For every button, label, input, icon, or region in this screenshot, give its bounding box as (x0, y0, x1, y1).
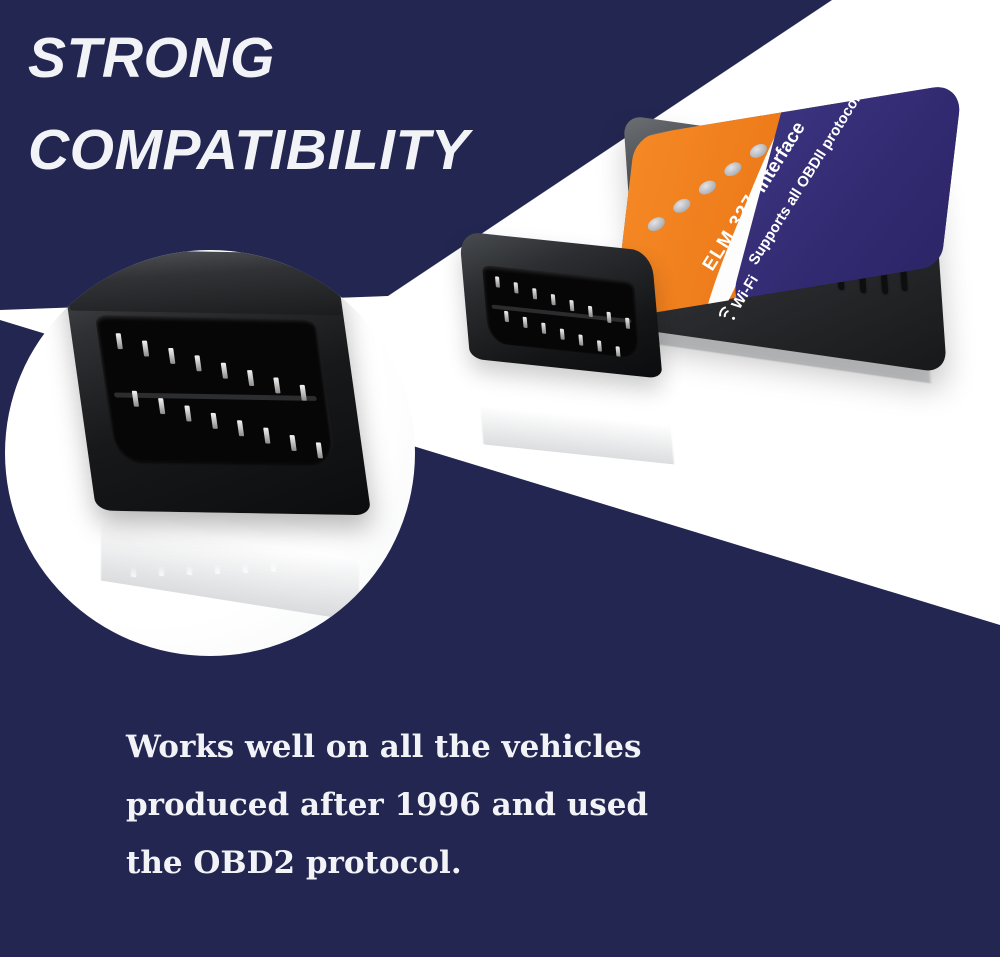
connector-pin (184, 406, 191, 422)
plug-pin (606, 312, 611, 323)
marketing-caption: Works well on all the vehicles produced … (126, 718, 886, 892)
connector-pin (194, 355, 201, 371)
plug-pin (541, 323, 546, 334)
connector-pin (247, 370, 254, 386)
connector-pin (289, 435, 296, 451)
plug-pin (532, 288, 537, 299)
plug-pin (569, 300, 574, 311)
connector-pin (263, 428, 270, 444)
plug-pin (514, 282, 519, 293)
connector-pin (168, 348, 175, 364)
connector-pin (300, 385, 307, 401)
plug-pin (597, 340, 602, 351)
plug-pin (625, 318, 630, 329)
device-obd-plug (461, 231, 684, 407)
connector-top-face (61, 250, 341, 315)
plug-pin (551, 294, 556, 305)
product-marketing-image: STRONG COMPATIBILITY (0, 0, 1000, 957)
connector-pin (273, 377, 280, 393)
plug-pin (578, 334, 583, 345)
plug-pin (523, 317, 528, 328)
plug-pin (504, 311, 509, 322)
plug-pin (560, 329, 565, 340)
connector-cavity (95, 315, 337, 467)
connector-pin (158, 398, 165, 414)
connector-pin (211, 413, 218, 429)
plug-pin (588, 306, 593, 317)
connector-pin (237, 420, 244, 436)
connector-pin (221, 363, 228, 379)
plug-pin (616, 346, 621, 357)
plug-pin (495, 276, 500, 287)
elm327-device-graphic (455, 118, 975, 498)
connector-pin-divider (114, 392, 317, 400)
connector-closeup-inset (5, 250, 415, 656)
plug-reflection (480, 402, 674, 465)
connector-pin (142, 341, 149, 357)
connector-pin (116, 333, 123, 349)
connector-pin (316, 442, 323, 458)
